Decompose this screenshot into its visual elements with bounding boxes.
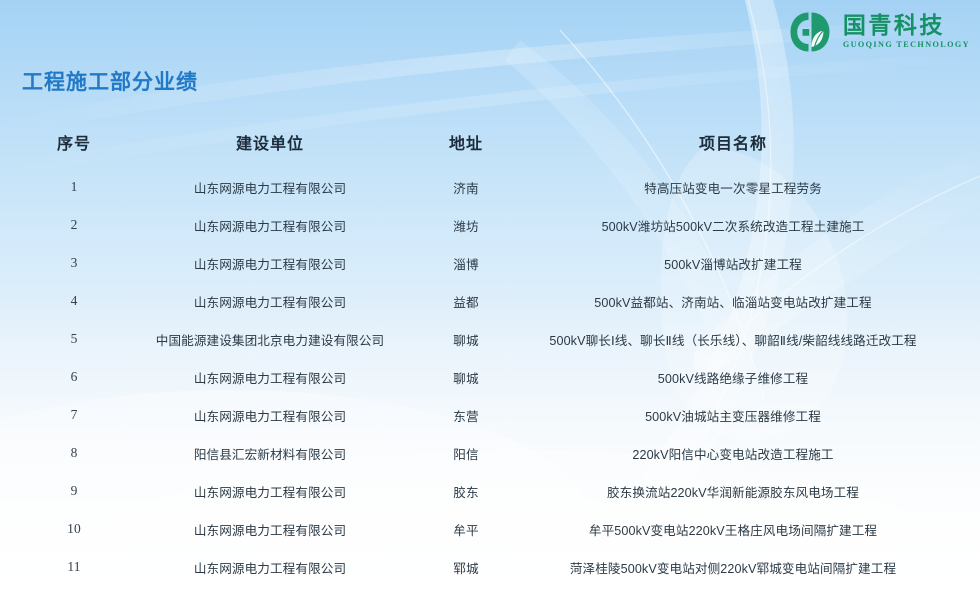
cell-address: 胶东 [420,472,512,510]
table-row: 2 山东网源电力工程有限公司 潍坊 500kV潍坊站500kV二次系统改造工程土… [28,206,954,244]
cell-address: 东营 [420,396,512,434]
brand-name-en: GUOQING TECHNOLOGY [843,41,970,49]
cell-index: 3 [28,244,120,282]
cell-unit: 山东网源电力工程有限公司 [120,510,420,548]
cell-unit: 山东网源电力工程有限公司 [120,548,420,586]
page-title: 工程施工部分业绩 [22,66,198,96]
cell-unit: 中国能源建设集团北京电力建设有限公司 [120,320,420,358]
column-header-index: 序号 [28,128,120,168]
cell-unit: 山东网源电力工程有限公司 [120,206,420,244]
table-row: 7 山东网源电力工程有限公司 东营 500kV油城站主变压器维修工程 [28,396,954,434]
cell-index: 4 [28,282,120,320]
cell-index: 7 [28,396,120,434]
cell-project: 牟平500kV变电站220kV王格庄风电场间隔扩建工程 [512,510,954,548]
cell-unit: 山东网源电力工程有限公司 [120,244,420,282]
brand-text: 国青科技 GUOQING TECHNOLOGY [843,14,970,49]
cell-project: 500kV油城站主变压器维修工程 [512,396,954,434]
cell-unit: 山东网源电力工程有限公司 [120,282,420,320]
cell-address: 淄博 [420,244,512,282]
cell-index: 6 [28,358,120,396]
cell-unit: 山东网源电力工程有限公司 [120,358,420,396]
cell-index: 5 [28,320,120,358]
table-row: 1 山东网源电力工程有限公司 济南 特高压站变电一次零星工程劳务 [28,168,954,206]
table-row: 9 山东网源电力工程有限公司 胶东 胶东换流站220kV华润新能源胶东风电场工程 [28,472,954,510]
cell-address: 牟平 [420,510,512,548]
cell-index: 1 [28,168,120,206]
table-body: 1 山东网源电力工程有限公司 济南 特高压站变电一次零星工程劳务 2 山东网源电… [28,168,954,586]
table-row: 6 山东网源电力工程有限公司 聊城 500kV线路绝缘子维修工程 [28,358,954,396]
table-row: 3 山东网源电力工程有限公司 淄博 500kV淄博站改扩建工程 [28,244,954,282]
table-row: 5 中国能源建设集团北京电力建设有限公司 聊城 500kV聊长Ⅰ线、聊长Ⅱ线（长… [28,320,954,358]
cell-index: 8 [28,434,120,472]
cell-unit: 山东网源电力工程有限公司 [120,472,420,510]
cell-index: 10 [28,510,120,548]
column-header-unit: 建设单位 [120,128,420,168]
table-header-row: 序号 建设单位 地址 项目名称 [28,128,954,168]
cell-address: 聊城 [420,358,512,396]
cell-index: 11 [28,548,120,586]
table-row: 11 山东网源电力工程有限公司 郓城 菏泽桂陵500kV变电站对侧220kV郓城… [28,548,954,586]
cell-unit: 阳信县汇宏新材料有限公司 [120,434,420,472]
table-row: 8 阳信县汇宏新材料有限公司 阳信 220kV阳信中心变电站改造工程施工 [28,434,954,472]
table-row: 10 山东网源电力工程有限公司 牟平 牟平500kV变电站220kV王格庄风电场… [28,510,954,548]
cell-project: 特高压站变电一次零星工程劳务 [512,168,954,206]
column-header-project: 项目名称 [512,128,954,168]
cell-address: 潍坊 [420,206,512,244]
cell-address: 郓城 [420,548,512,586]
cell-project: 500kV线路绝缘子维修工程 [512,358,954,396]
cell-project: 220kV阳信中心变电站改造工程施工 [512,434,954,472]
brand-name-cn: 国青科技 [843,14,970,37]
cell-project: 500kV潍坊站500kV二次系统改造工程土建施工 [512,206,954,244]
cell-project: 500kV淄博站改扩建工程 [512,244,954,282]
cell-unit: 山东网源电力工程有限公司 [120,396,420,434]
cell-address: 济南 [420,168,512,206]
column-header-address: 地址 [420,128,512,168]
cell-address: 益都 [420,282,512,320]
cell-project: 菏泽桂陵500kV变电站对侧220kV郓城变电站间隔扩建工程 [512,548,954,586]
cell-project: 500kV聊长Ⅰ线、聊长Ⅱ线（长乐线）、聊韶Ⅱ线/柴韶线线路迁改工程 [512,320,954,358]
table-row: 4 山东网源电力工程有限公司 益都 500kV益都站、济南站、临淄站变电站改扩建… [28,282,954,320]
cell-index: 2 [28,206,120,244]
cell-unit: 山东网源电力工程有限公司 [120,168,420,206]
cell-address: 阳信 [420,434,512,472]
cell-project: 500kV益都站、济南站、临淄站变电站改扩建工程 [512,282,954,320]
cell-address: 聊城 [420,320,512,358]
performance-table: 序号 建设单位 地址 项目名称 1 山东网源电力工程有限公司 济南 特高压站变电… [28,128,954,586]
gq-leaf-monogram-icon [786,8,834,56]
cell-project: 胶东换流站220kV华润新能源胶东风电场工程 [512,472,954,510]
brand-logo: 国青科技 GUOQING TECHNOLOGY [786,8,970,56]
slide-root: 国青科技 GUOQING TECHNOLOGY 工程施工部分业绩 序号 建设单位… [0,0,980,600]
cell-index: 9 [28,472,120,510]
